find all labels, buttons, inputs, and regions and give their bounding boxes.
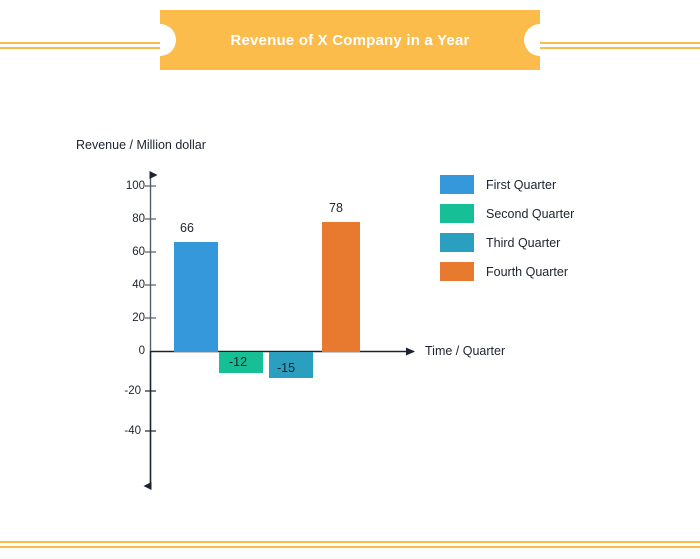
y-tick-label-60: 60 xyxy=(105,246,145,258)
footer-rule-bottom xyxy=(0,546,700,548)
bar-fourth-quarter[interactable] xyxy=(322,222,360,352)
title-banner-region: Revenue of X Company in a Year xyxy=(0,0,700,80)
y-tick-label-40: 40 xyxy=(105,279,145,291)
legend-item-second-quarter[interactable]: Second Quarter xyxy=(440,199,640,228)
legend-swatch-first-quarter xyxy=(440,175,474,194)
y-tick-label-neg20: -20 xyxy=(101,385,141,397)
ribbon-rule-right-top xyxy=(540,42,700,44)
legend-label-second-quarter: Second Quarter xyxy=(486,207,574,221)
chart-legend: First Quarter Second Quarter Third Quart… xyxy=(440,170,640,286)
legend-swatch-fourth-quarter xyxy=(440,262,474,281)
y-tick-label-80: 80 xyxy=(105,213,145,225)
ribbon-rule-right-bottom xyxy=(540,47,700,49)
y-tick-label-neg40: -40 xyxy=(101,425,141,437)
bar-chart: Revenue / Million dollar Time / Quarter xyxy=(0,80,700,535)
y-tick-label-100: 100 xyxy=(105,180,145,192)
legend-item-first-quarter[interactable]: First Quarter xyxy=(440,170,640,199)
bar-first-quarter[interactable] xyxy=(174,242,218,352)
bar-value-third-quarter: -15 xyxy=(277,361,295,375)
bar-value-first-quarter: 66 xyxy=(180,221,194,235)
bar-value-fourth-quarter: 78 xyxy=(329,201,343,215)
y-tick-label-0: 0 xyxy=(105,345,145,357)
y-tick-label-20: 20 xyxy=(105,312,145,324)
page-title: Revenue of X Company in a Year xyxy=(152,10,548,70)
legend-swatch-second-quarter xyxy=(440,204,474,223)
ribbon-rule-left-bottom xyxy=(0,47,160,49)
footer-rule-top xyxy=(0,541,700,543)
legend-item-third-quarter[interactable]: Third Quarter xyxy=(440,228,640,257)
legend-label-fourth-quarter: Fourth Quarter xyxy=(486,265,568,279)
legend-label-third-quarter: Third Quarter xyxy=(486,236,560,250)
title-ribbon: Revenue of X Company in a Year xyxy=(152,10,548,70)
legend-item-fourth-quarter[interactable]: Fourth Quarter xyxy=(440,257,640,286)
bar-value-second-quarter: -12 xyxy=(229,355,247,369)
legend-swatch-third-quarter xyxy=(440,233,474,252)
ribbon-rule-left-top xyxy=(0,42,160,44)
legend-label-first-quarter: First Quarter xyxy=(486,178,556,192)
